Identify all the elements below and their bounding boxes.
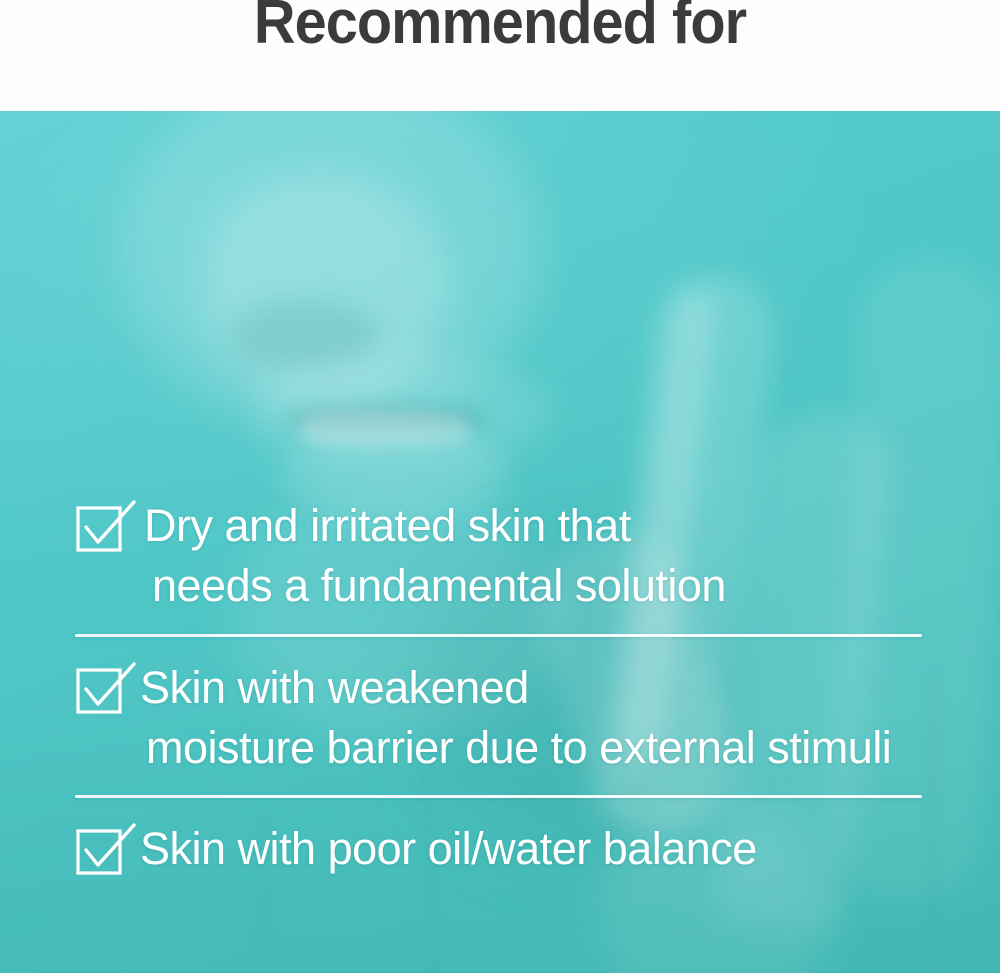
list-item-line: Dry and irritated skin that: [0, 496, 1000, 556]
list-item-line: Skin with weakened: [0, 658, 1000, 718]
recommended-for-panel: Recommended for: [0, 0, 1000, 973]
list-item-text: Skin with poor oil/water balance: [0, 819, 1000, 879]
list-item-text: Skin with weakened moisture barrier due …: [0, 658, 1000, 778]
page-title: Recommended for: [35, 0, 965, 55]
header-band: Recommended for: [0, 0, 1000, 111]
list-item-line: needs a fundamental solution: [0, 556, 1000, 616]
divider: [75, 634, 922, 637]
list-item-text: Dry and irritated skin that needs a fund…: [0, 496, 1000, 616]
list-item-line: moisture barrier due to external stimuli: [0, 718, 1000, 778]
hero-image-section: Dry and irritated skin that needs a fund…: [0, 111, 1000, 973]
list-item-line: Skin with poor oil/water balance: [0, 819, 1000, 879]
checklist: Dry and irritated skin that needs a fund…: [0, 111, 1000, 973]
divider: [75, 795, 922, 798]
